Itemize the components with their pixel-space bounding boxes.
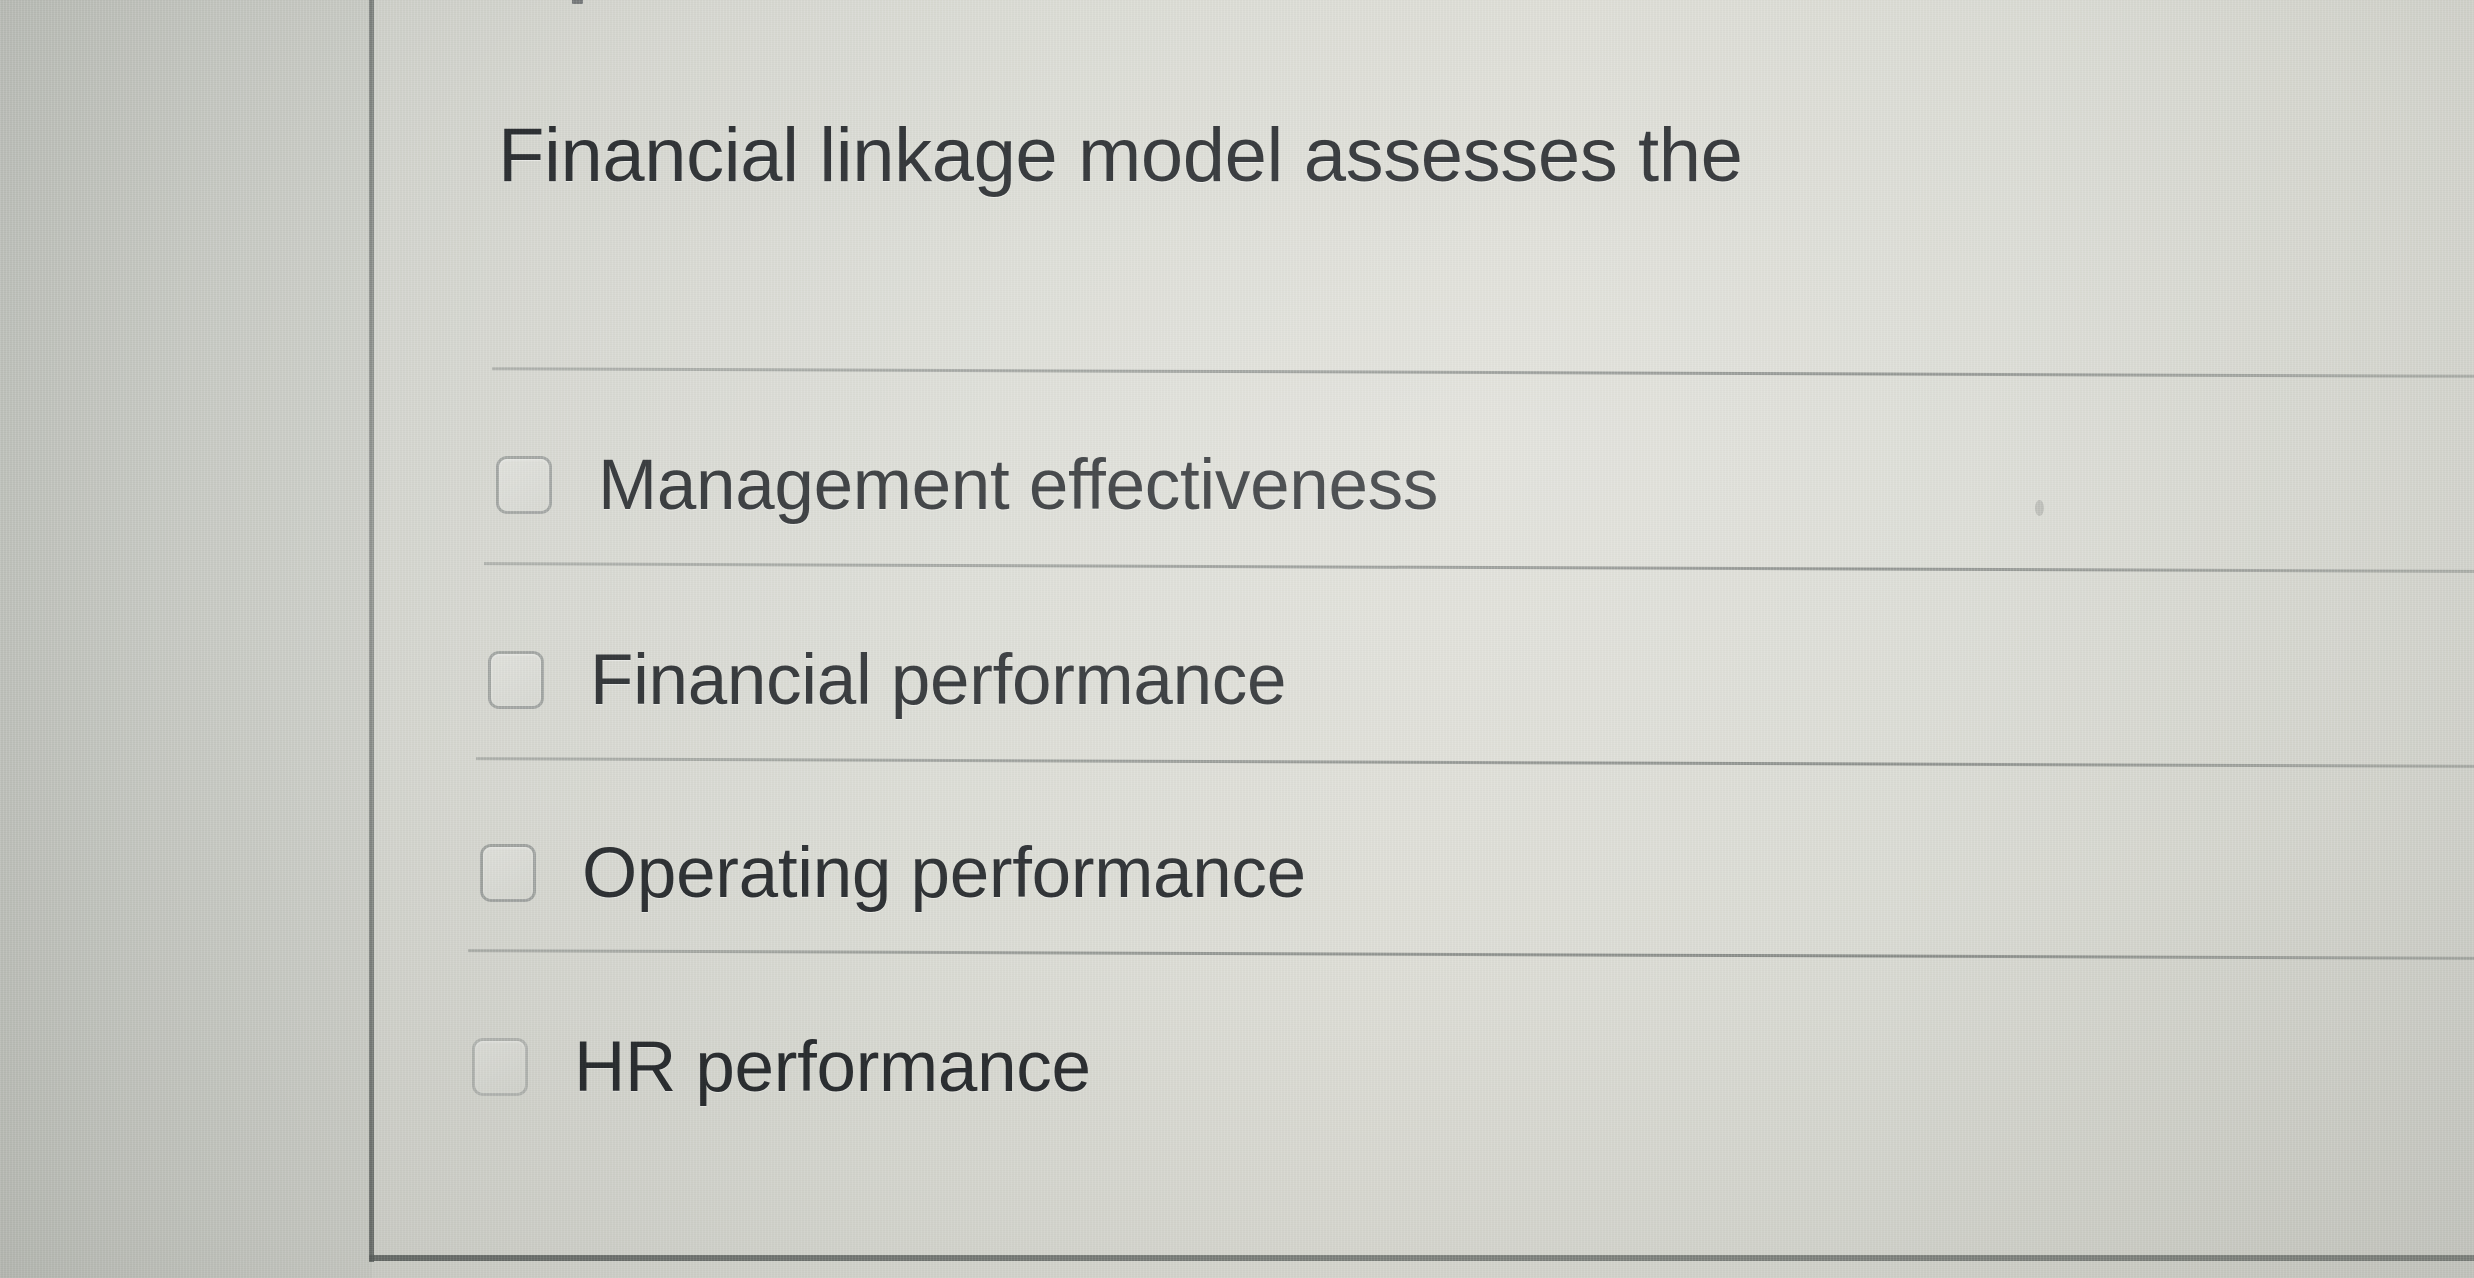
card-left-border bbox=[369, 0, 374, 1262]
option-row-management-effectiveness[interactable]: Management effectiveness bbox=[496, 430, 1438, 540]
question-title: Financial linkage model assesses the bbox=[498, 112, 1743, 199]
option-label-3: Operating performance bbox=[582, 833, 1306, 914]
question-card: Financial linkage model assesses the Man… bbox=[374, 0, 2474, 1256]
clipped-text-fragment bbox=[572, 0, 583, 4]
option-row-hr-performance[interactable]: HR performance bbox=[472, 1012, 1091, 1122]
screen-dust-speck bbox=[2035, 500, 2044, 516]
option-row-operating-performance[interactable]: Operating performance bbox=[480, 818, 1306, 928]
card-bottom-border bbox=[369, 1255, 2474, 1261]
option-separator-2 bbox=[484, 562, 2474, 573]
option-label-4: HR performance bbox=[574, 1027, 1091, 1108]
option-separator-1 bbox=[492, 367, 2474, 378]
option-label-1: Management effectiveness bbox=[598, 445, 1438, 526]
option-row-financial-performance[interactable]: Financial performance bbox=[488, 625, 1286, 735]
checkbox-option-3[interactable] bbox=[480, 844, 536, 902]
option-separator-4 bbox=[468, 949, 2474, 960]
checkbox-option-2[interactable] bbox=[488, 651, 544, 709]
option-separator-3 bbox=[476, 757, 2474, 768]
checkbox-option-4[interactable] bbox=[472, 1038, 528, 1096]
screen-photo: Financial linkage model assesses the Man… bbox=[0, 0, 2474, 1278]
left-gutter bbox=[0, 0, 372, 1278]
checkbox-option-1[interactable] bbox=[496, 456, 552, 514]
option-label-2: Financial performance bbox=[590, 640, 1286, 721]
